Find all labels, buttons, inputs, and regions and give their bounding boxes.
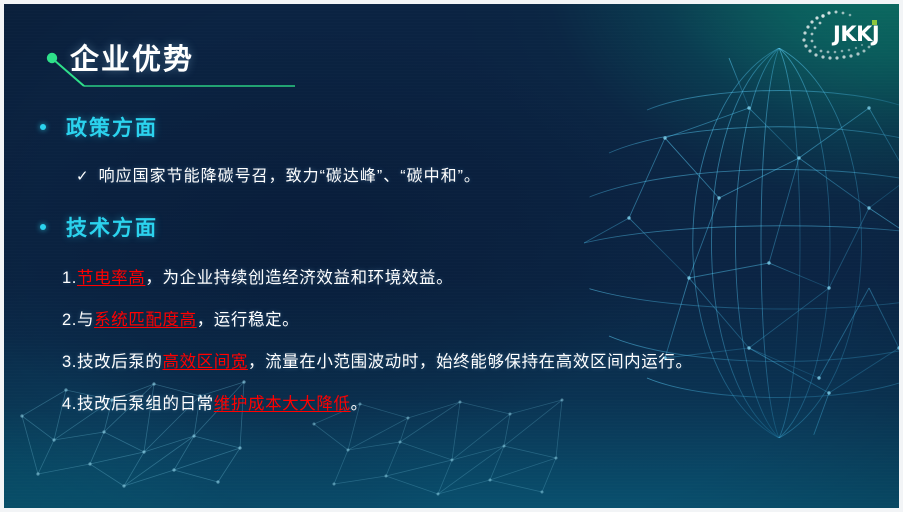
list-item: 3.技改后泵的高效区间宽，流量在小范围波动时，始终能够保持在高效区间内运行。 (62, 330, 879, 372)
check-icon: ✓ (76, 167, 90, 185)
list-item-highlight: 系统匹配度高 (94, 311, 197, 329)
list-item-text: 响应国家节能降碳号召，致力“碳达峰”、“碳中和”。 (99, 162, 481, 186)
list-item-tail: 。 (351, 395, 368, 413)
presentation-slide: JKKJ 企业优势 政策方面 ✓ 响应国家节能降碳号召，致力“碳达峰”、“碳中和… (0, 0, 903, 512)
list-item-lead: 技改后泵的 (77, 353, 163, 371)
logo-accent-square (872, 20, 877, 25)
list-item: 4.技改后泵组的日常维护成本大大降低。 (62, 372, 879, 414)
list-item-number: 4. (62, 395, 77, 413)
list-item-highlight: 高效区间宽 (162, 353, 248, 371)
section-heading-tech: 技术方面 (40, 212, 879, 242)
section-heading-policy-label: 政策方面 (66, 112, 158, 142)
page-title: 企业优势 (70, 42, 194, 78)
section-heading-policy: 政策方面 (40, 112, 879, 142)
list-item: ✓ 响应国家节能降碳号召，致力“碳达峰”、“碳中和”。 (76, 162, 879, 186)
list-item-number: 2. (62, 311, 77, 329)
section-heading-tech-label: 技术方面 (66, 212, 158, 242)
list-item: 2.与系统匹配度高，运行稳定。 (62, 288, 879, 330)
list-item-highlight: 维护成本大大降低 (214, 395, 351, 413)
list-item-lead: 与 (77, 311, 94, 329)
list-item-tail: ，运行稳定。 (197, 311, 300, 329)
list-item-number: 3. (62, 353, 77, 371)
list-item-tail: ，为企业持续创造经济效益和环境效益。 (145, 269, 453, 287)
bullet-dot-icon (40, 224, 46, 230)
list-item-tail: ，流量在小范围波动时，始终能够保持在高效区间内运行。 (248, 353, 693, 371)
list-item: 1.节电率高，为企业持续创造经济效益和环境效益。 (62, 246, 879, 288)
bullet-dot-icon (40, 124, 46, 130)
numbered-list: 1.节电率高，为企业持续创造经济效益和环境效益。 2.与系统匹配度高，运行稳定。… (40, 246, 879, 414)
list-item-number: 1. (62, 269, 77, 287)
slide-content: 政策方面 ✓ 响应国家节能降碳号召，致力“碳达峰”、“碳中和”。 技术方面 1.… (40, 104, 879, 414)
network-constellation-bottom-middle (304, 398, 604, 508)
list-item-highlight: 节电率高 (77, 269, 145, 287)
slide-title-block: 企业优势 (40, 42, 460, 94)
logo-wordmark: JKKJ (833, 22, 879, 46)
list-item-lead: 技改后泵组的日常 (77, 395, 214, 413)
company-logo: JKKJ (793, 8, 889, 66)
